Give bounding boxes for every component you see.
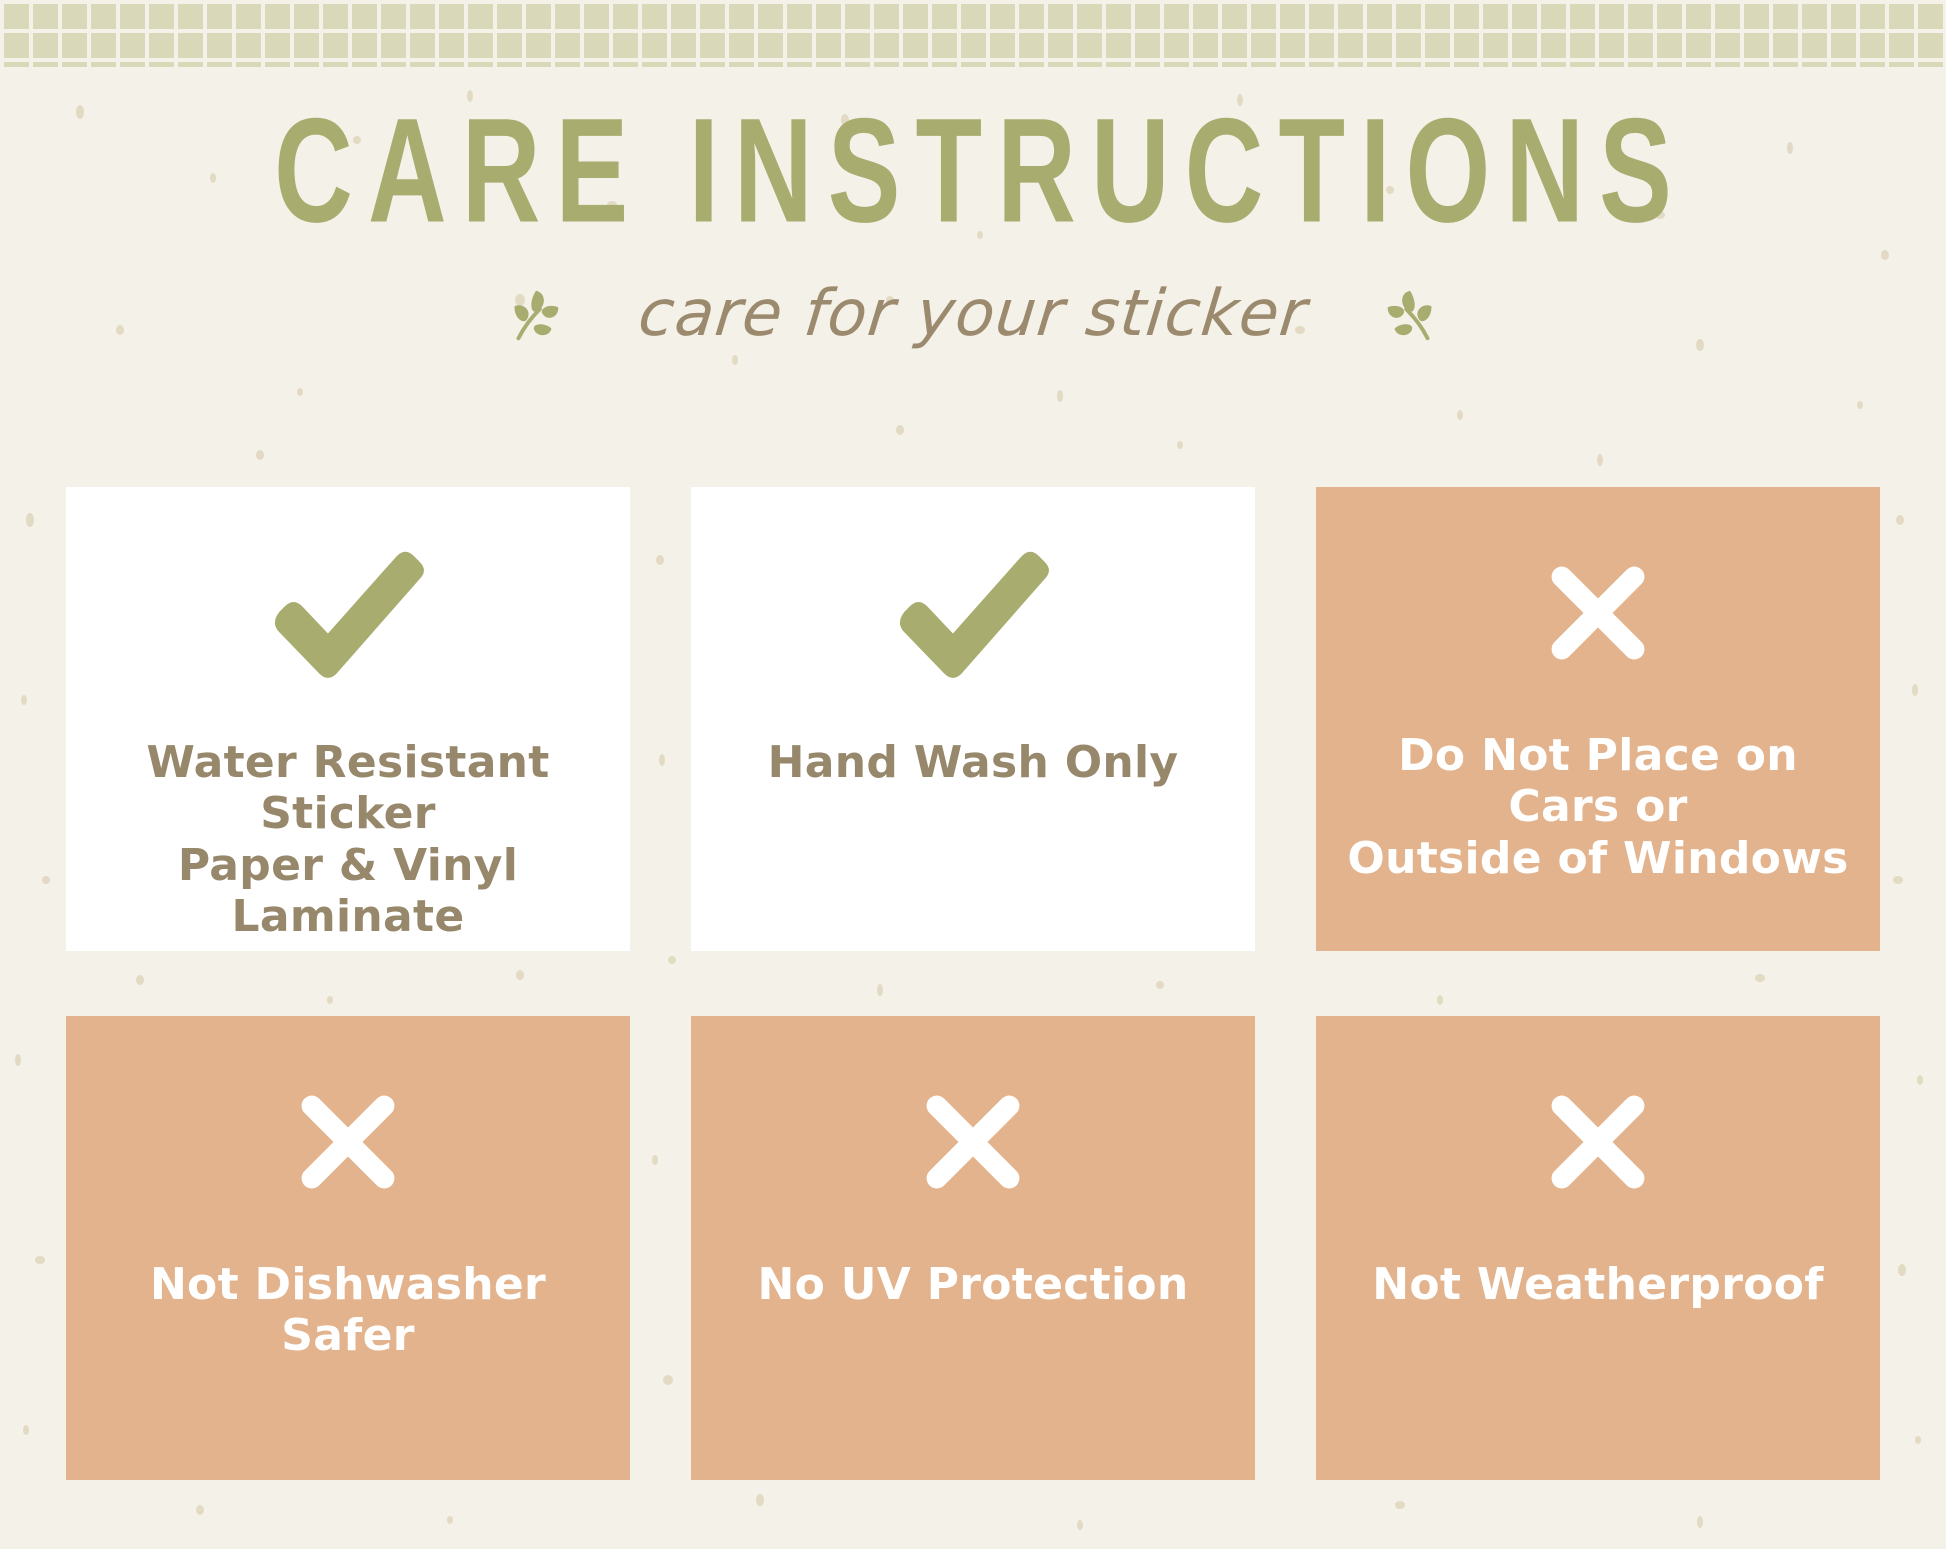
care-cards-grid: Water Resistant Sticker Paper & Vinyl La… bbox=[66, 487, 1880, 1480]
card-label: Not Weatherproof bbox=[1344, 1259, 1851, 1310]
care-card-no-uv-protection[interactable]: No UV Protection bbox=[691, 1016, 1255, 1480]
card-label: Not Dishwasher Safer bbox=[66, 1259, 630, 1362]
subtitle-row: care for your sticker bbox=[0, 282, 1946, 346]
card-label: Water Resistant Sticker Paper & Vinyl La… bbox=[66, 737, 630, 943]
cross-icon bbox=[691, 1024, 1255, 1259]
care-instructions-poster: CARE INSTRUCTIONS care for your sticker bbox=[0, 0, 1946, 1549]
care-card-water-resistant[interactable]: Water Resistant Sticker Paper & Vinyl La… bbox=[66, 487, 630, 951]
card-label: Do Not Place on Cars or Outside of Windo… bbox=[1316, 730, 1880, 884]
leaf-sprig-icon bbox=[503, 283, 565, 345]
care-card-hand-wash-only[interactable]: Hand Wash Only bbox=[691, 487, 1255, 951]
leaf-sprig-icon bbox=[1381, 283, 1443, 345]
care-card-do-not-place-on-cars[interactable]: Do Not Place on Cars or Outside of Windo… bbox=[1316, 487, 1880, 951]
care-card-not-dishwasher-safer[interactable]: Not Dishwasher Safer bbox=[66, 1016, 630, 1480]
grid-pattern-band bbox=[0, 0, 1946, 72]
page-title: CARE INSTRUCTIONS bbox=[58, 96, 1887, 244]
check-icon bbox=[66, 487, 630, 737]
cross-icon bbox=[1316, 1024, 1880, 1259]
poster-subtitle: care for your sticker bbox=[636, 282, 1311, 346]
cross-icon bbox=[66, 1024, 630, 1259]
poster-header: CARE INSTRUCTIONS care for your sticker bbox=[0, 96, 1946, 346]
cross-icon bbox=[1316, 495, 1880, 730]
card-label: Hand Wash Only bbox=[740, 737, 1207, 788]
check-icon bbox=[691, 487, 1255, 737]
care-card-not-weatherproof[interactable]: Not Weatherproof bbox=[1316, 1016, 1880, 1480]
card-label: No UV Protection bbox=[729, 1259, 1216, 1310]
